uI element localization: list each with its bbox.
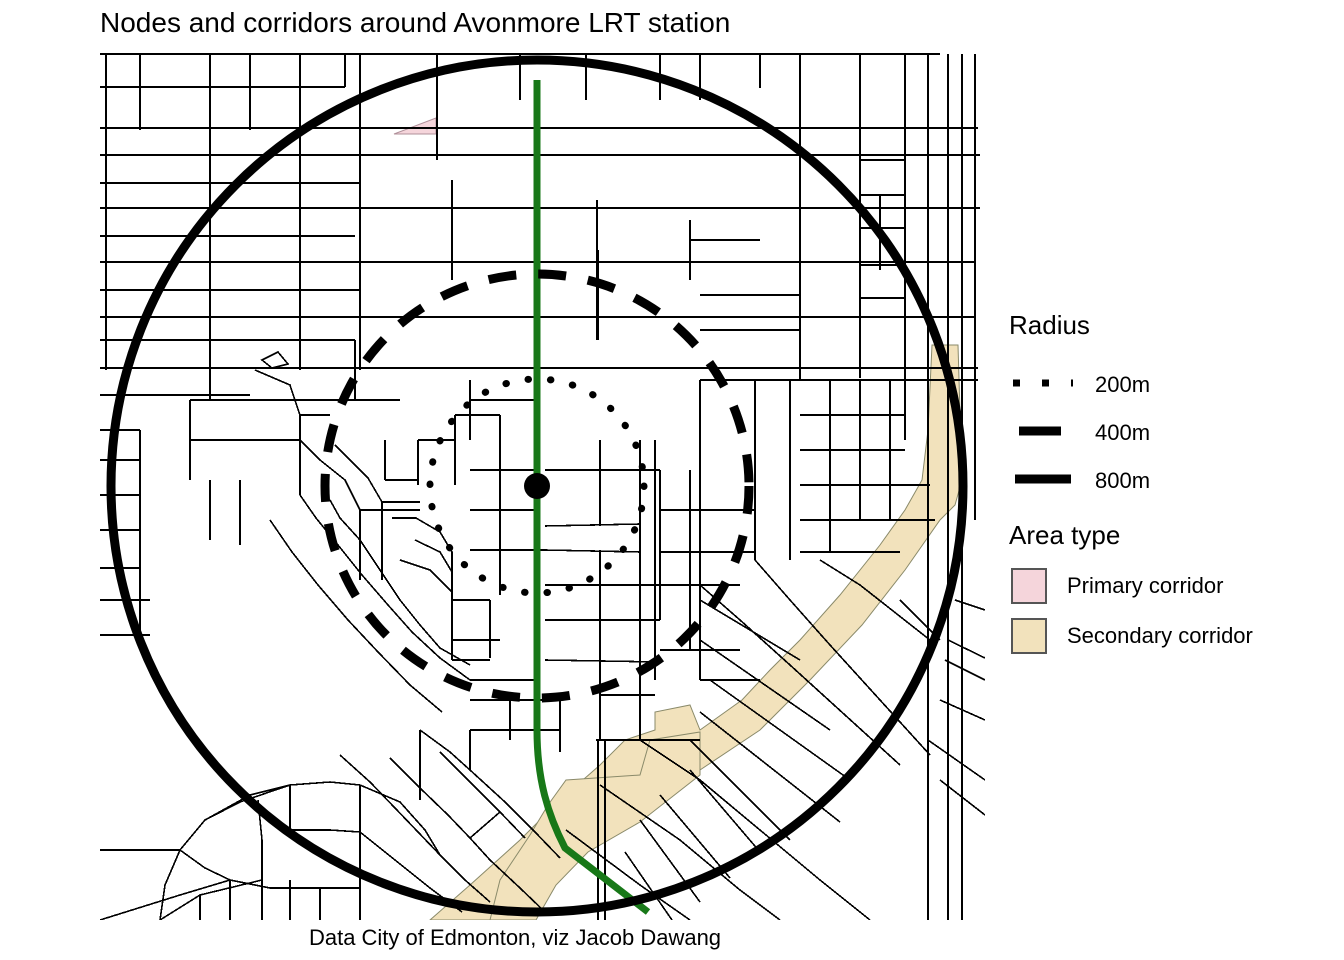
legend-panel: Radius 200m 400m 800m Area type Primary … (985, 40, 1344, 920)
legend-title-radius: Radius (1009, 310, 1090, 340)
legend-label-800m: 800m (1095, 468, 1150, 494)
radius-key-200m (1009, 370, 1081, 396)
map-panel[interactable] (0, 40, 985, 920)
legend-label-400m: 400m (1095, 420, 1150, 446)
map-figure: Nodes and corridors around Avonmore LRT … (0, 0, 1344, 960)
legend-label-secondary-corridor: Secondary corridor (1067, 623, 1253, 649)
radius-key-800m (1009, 466, 1081, 492)
legend-label-200m: 200m (1095, 372, 1150, 398)
page-title: Nodes and corridors around Avonmore LRT … (100, 6, 730, 40)
radius-key-400m (1009, 418, 1081, 444)
map-canvas[interactable] (0, 40, 985, 920)
station-node[interactable] (524, 473, 550, 499)
legend-title-area-type: Area type (1009, 520, 1120, 550)
area-key-secondary (1011, 618, 1047, 654)
area-key-primary (1011, 568, 1047, 604)
figure-caption: Data City of Edmonton, viz Jacob Dawang (0, 924, 1030, 952)
legend-label-primary-corridor: Primary corridor (1067, 573, 1223, 599)
